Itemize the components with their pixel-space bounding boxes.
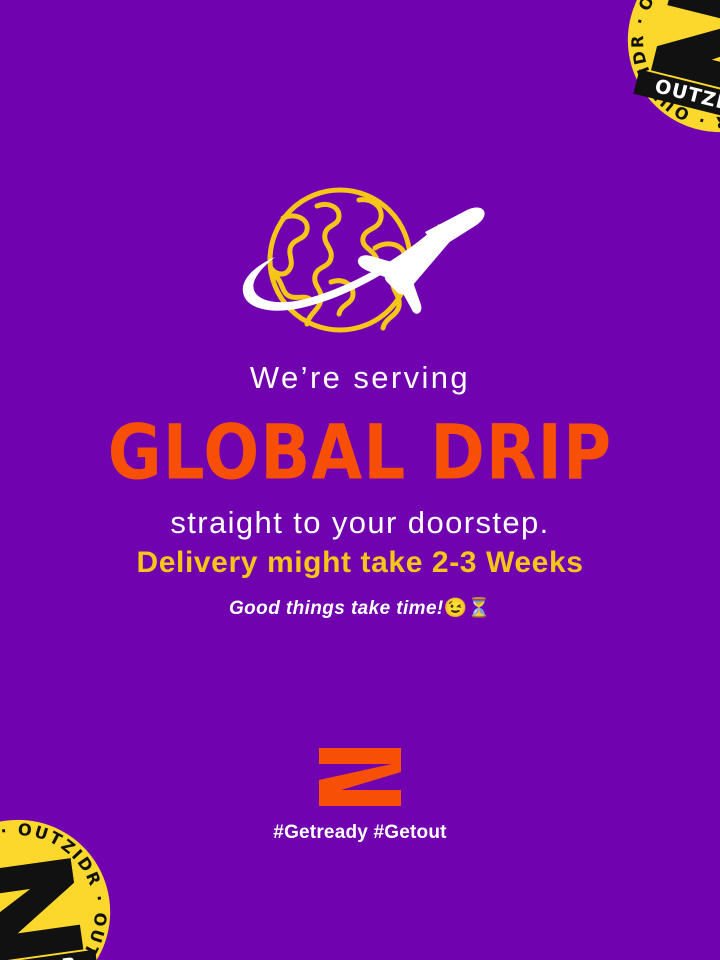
outzidr-z-monogram-icon xyxy=(319,748,401,806)
delivery-notice-block: Delivery might take 2-3 Weeks Good thing… xyxy=(0,548,720,618)
globe-with-airplane-illustration xyxy=(235,178,485,350)
headline-subtitle: straight to your doorstep. xyxy=(0,507,720,538)
outzidr-seal-top-right: OUTZIDR · OUTZIDR · OUTZIDR · OUTZIDR · … xyxy=(604,0,720,156)
poster-canvas: OUTZIDR · OUTZIDR · OUTZIDR · OUTZIDR · … xyxy=(0,0,720,960)
headline-title: GLOBAL DRIP xyxy=(0,415,720,491)
footer-block: #Getready #Getout xyxy=(0,748,720,844)
hourglass-icon: ⏳ xyxy=(467,598,491,619)
delivery-reassurance: Good things take time!😉⏳ xyxy=(0,599,720,618)
footer-hashtags: #Getready #Getout xyxy=(0,822,720,844)
winking-face-icon: 😉 xyxy=(444,598,468,619)
headline-block: We’re serving GLOBAL DRIP straight to yo… xyxy=(0,362,720,538)
reassurance-text: Good things take time! xyxy=(229,598,444,619)
delivery-notice: Delivery might take 2-3 Weeks xyxy=(0,548,720,578)
headline-eyebrow: We’re serving xyxy=(0,362,720,393)
